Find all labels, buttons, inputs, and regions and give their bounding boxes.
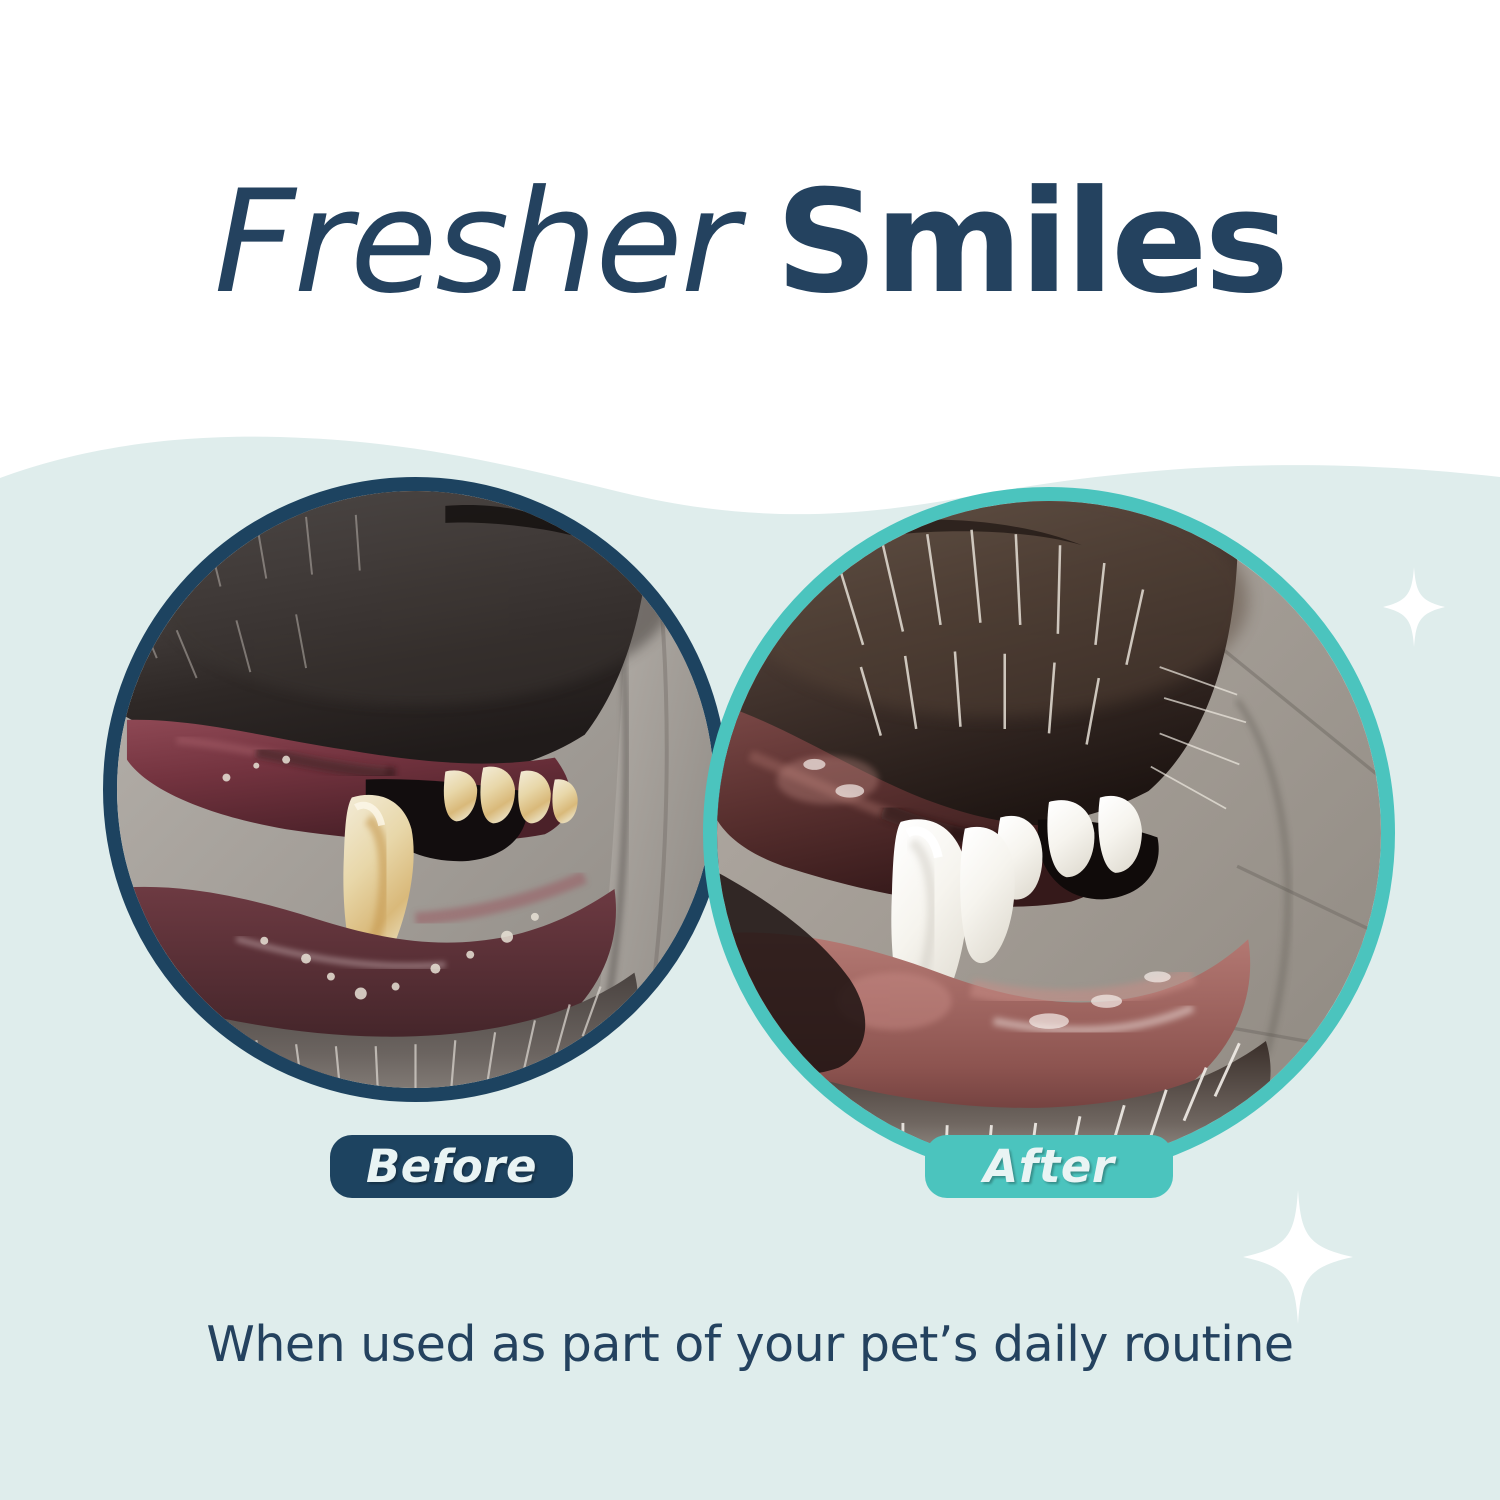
badge-before-label: Before <box>366 1140 537 1193</box>
headline-bold-word: Smiles <box>776 160 1286 325</box>
poster-canvas: Fresher Smiles <box>0 0 1500 1500</box>
before-photo-art <box>117 491 714 1088</box>
headline-light-word: Fresher <box>214 160 737 325</box>
dog-mouth-after-photo <box>703 487 1395 1179</box>
caption-text: When used as part of your pet’s daily ro… <box>0 1316 1500 1373</box>
after-photo-art <box>717 501 1381 1165</box>
badge-before: Before <box>330 1135 573 1198</box>
sparkle-icon-large <box>1243 1190 1353 1324</box>
badge-after: After <box>925 1135 1173 1198</box>
sparkle-icon-small <box>1383 567 1445 647</box>
page-title: Fresher Smiles <box>0 168 1500 317</box>
badge-after-label: After <box>983 1140 1114 1193</box>
dog-mouth-before-photo <box>103 477 728 1102</box>
